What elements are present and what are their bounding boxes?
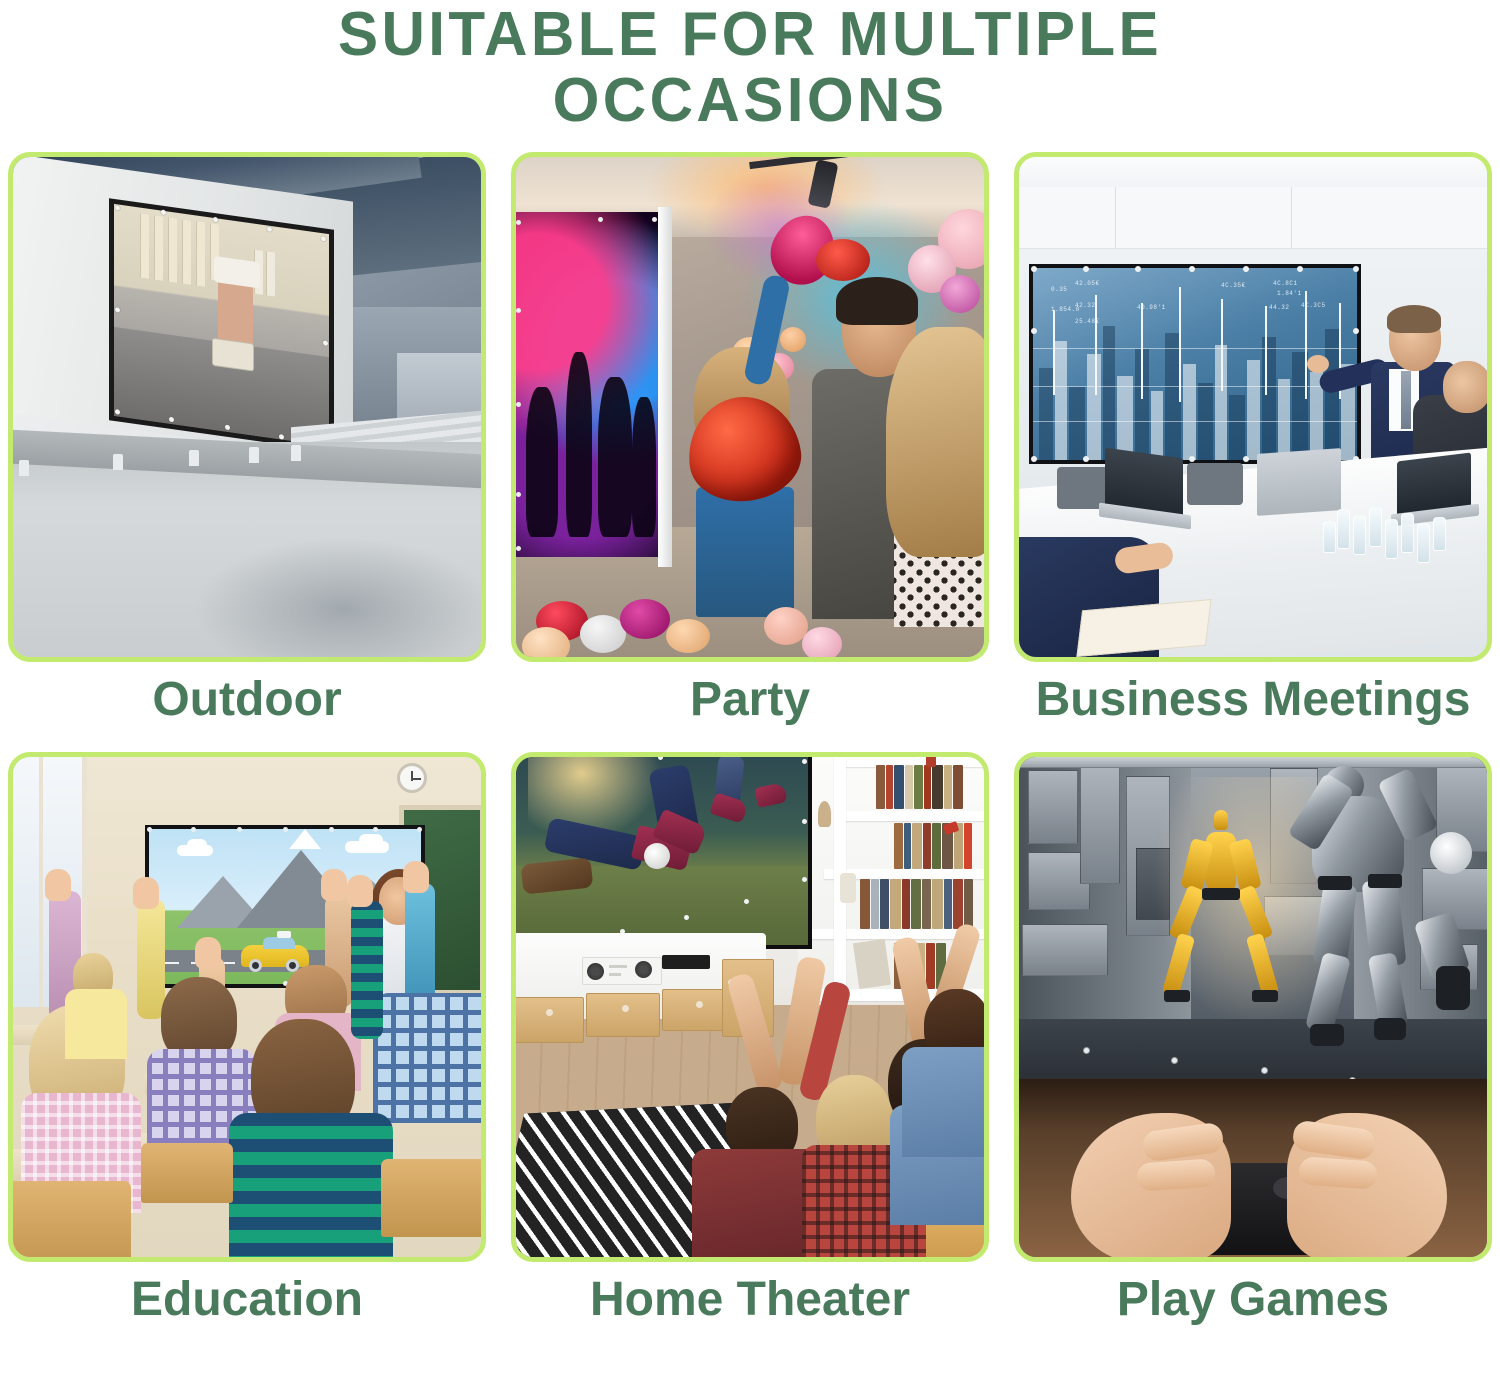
occasion-caption-education: Education: [8, 1272, 486, 1328]
occasion-card-home-theater[interactable]: Home Theater: [511, 752, 989, 1328]
projection-screen-home-theater: [516, 757, 812, 949]
projection-screen-party: [516, 212, 664, 557]
scene-home-theater: [516, 757, 984, 1257]
scene-play-games: [1019, 757, 1487, 1257]
scene-business-meetings: 0.35 42.05€ 1.854.0 42.32 25.48€ 40.98'1…: [1019, 157, 1487, 657]
occasion-card-party[interactable]: Party: [511, 152, 989, 728]
occasion-image-frame-party: [511, 152, 989, 662]
occasion-image-frame-education: [8, 752, 486, 1262]
occasion-caption-home-theater: Home Theater: [511, 1272, 989, 1328]
occasion-caption-business-meetings: Business Meetings: [1014, 672, 1492, 728]
occasion-grid: Outdoor: [8, 152, 1492, 1328]
page-title-line-1: SUITABLE FOR MULTIPLE: [23, 2, 1478, 68]
scene-party: [516, 157, 984, 657]
promo-page: SUITABLE FOR MULTIPLE OCCASIONS: [0, 0, 1500, 1373]
page-title: SUITABLE FOR MULTIPLE OCCASIONS: [0, 0, 1500, 134]
occasion-image-frame-outdoor: [8, 152, 486, 662]
projection-screen-outdoor: [109, 198, 334, 452]
occasion-image-frame-play-games: [1014, 752, 1492, 1262]
occasion-card-education[interactable]: Education: [8, 752, 486, 1328]
occasion-caption-party: Party: [511, 672, 989, 728]
scene-outdoor: [13, 157, 481, 657]
sci-fi-game-graphic: [1019, 757, 1487, 1098]
projection-screen-gaming: [1019, 757, 1487, 1101]
car-illustration: [241, 945, 309, 967]
occasion-caption-play-games: Play Games: [1014, 1272, 1492, 1328]
occasion-card-outdoor[interactable]: Outdoor: [8, 152, 486, 728]
occasion-image-frame-home-theater: [511, 752, 989, 1262]
scene-education: [13, 757, 481, 1257]
occasion-card-play-games[interactable]: Play Games: [1014, 752, 1492, 1328]
occasion-card-business-meetings[interactable]: 0.35 42.05€ 1.854.0 42.32 25.48€ 40.98'1…: [1014, 152, 1492, 728]
occasion-image-frame-business-meetings: 0.35 42.05€ 1.854.0 42.32 25.48€ 40.98'1…: [1014, 152, 1492, 662]
occasion-caption-outdoor: Outdoor: [8, 672, 486, 728]
page-title-line-2: OCCASIONS: [23, 68, 1478, 134]
wall-clock-icon: [397, 763, 427, 793]
